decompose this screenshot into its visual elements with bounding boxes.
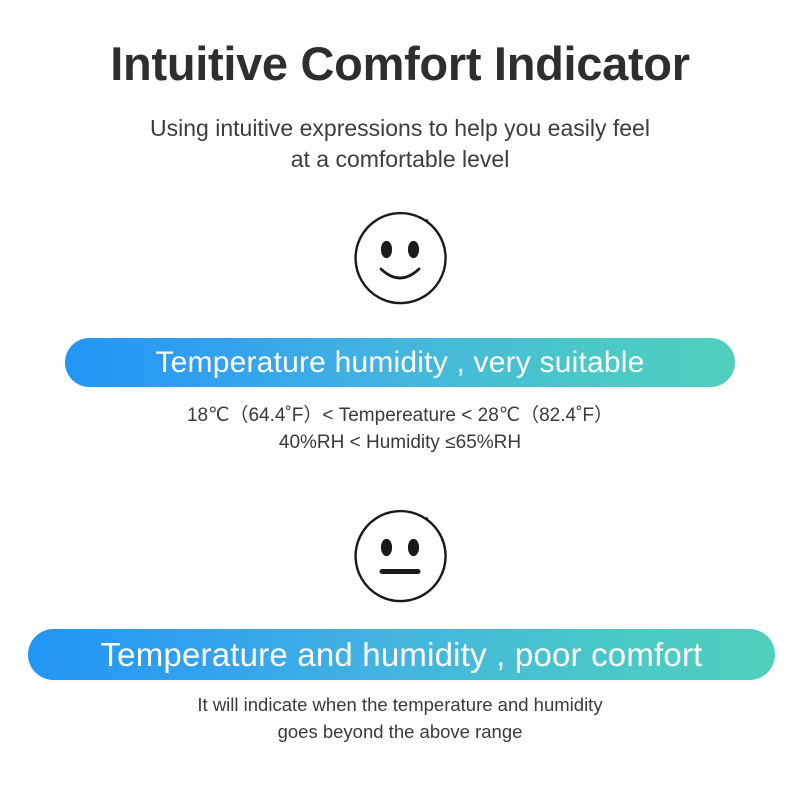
status-banner-poor-comfort: Temperature and humidity , poor comfort xyxy=(28,629,775,680)
status-banner-comfortable: Temperature humidity , very suitable xyxy=(65,338,735,387)
subtitle-line-1: Using intuitive expressions to help you … xyxy=(0,113,800,144)
poor-comfort-caption: It will indicate when the temperature an… xyxy=(0,691,800,745)
status-banner-poor-comfort-label: Temperature and humidity , poor comfort xyxy=(100,636,702,674)
smiley-happy-face-icon xyxy=(350,208,450,308)
comfortable-range-caption: 18℃（64.4˚F）< Tempereature < 28℃（82.4˚F） … xyxy=(0,402,800,456)
temperature-range-text: 18℃（64.4˚F）< Tempereature < 28℃（82.4˚F） xyxy=(0,402,800,429)
page-subtitle: Using intuitive expressions to help you … xyxy=(0,113,800,175)
page-title: Intuitive Comfort Indicator xyxy=(0,38,800,90)
subtitle-line-2: at a comfortable level xyxy=(0,144,800,175)
comfort-indicator-page: Intuitive Comfort Indicator Using intuit… xyxy=(0,0,800,800)
status-banner-comfortable-label: Temperature humidity , very suitable xyxy=(155,346,644,380)
poor-comfort-caption-line-1: It will indicate when the temperature an… xyxy=(0,691,800,718)
poor-comfort-caption-line-2: goes beyond the above range xyxy=(0,718,800,745)
neutral-face-icon xyxy=(350,506,450,606)
humidity-range-text: 40%RH < Humidity ≤65%RH xyxy=(0,429,800,456)
